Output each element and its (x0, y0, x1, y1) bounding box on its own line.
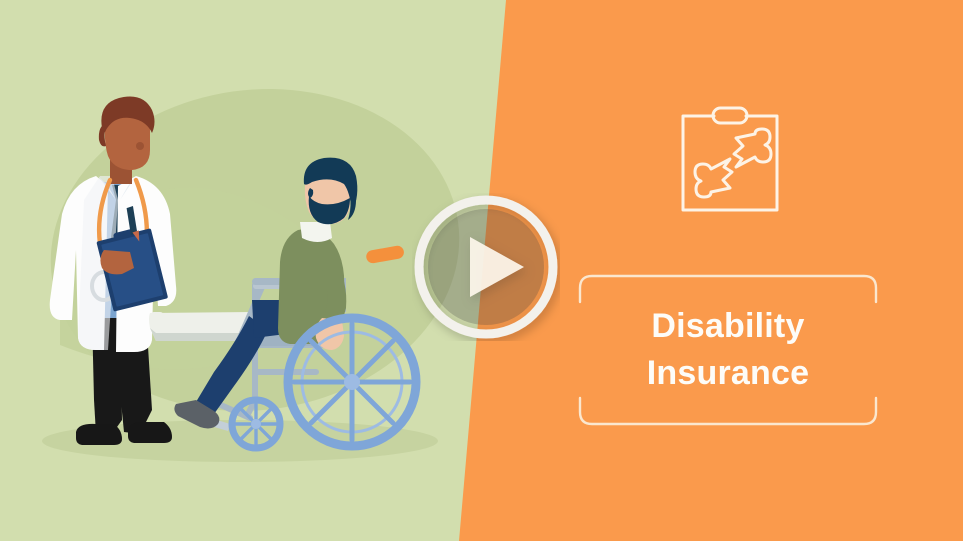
title-text-block: Disability Insurance (578, 274, 878, 426)
play-button-graphic[interactable] (412, 193, 560, 341)
leg-cast (149, 312, 252, 341)
doctor-shoe-left (76, 424, 122, 445)
clipboard-broken-bone-icon (670, 103, 790, 223)
doctor-shoe-right (128, 422, 172, 443)
title-line-1: Disability (651, 306, 804, 347)
title-line-2: Insurance (647, 353, 809, 394)
patient-collar (300, 222, 332, 242)
wheelchair-big-wheel (288, 318, 416, 446)
play-button[interactable] (412, 193, 560, 341)
video-poster-card[interactable]: Disability Insurance (0, 0, 963, 541)
wheelchair-caster-wheel (232, 400, 280, 448)
title-frame: Disability Insurance (578, 274, 878, 426)
